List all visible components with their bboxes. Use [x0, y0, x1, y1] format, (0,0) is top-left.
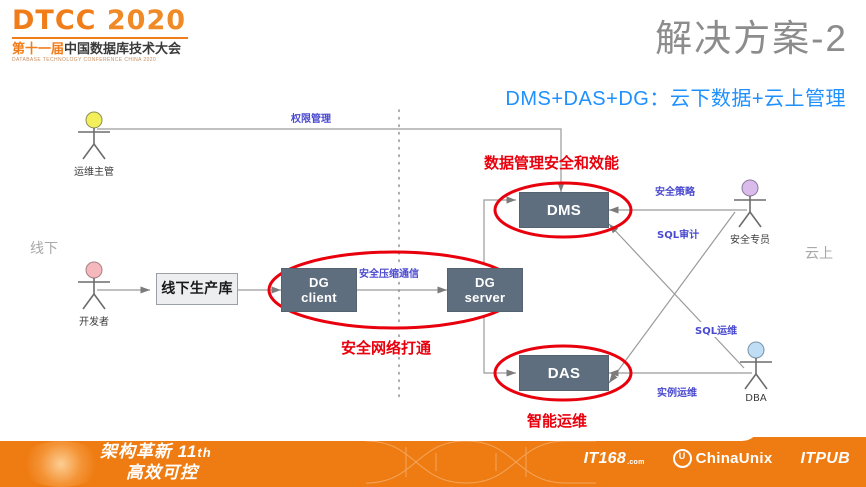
node-dg-client[interactable]: DG client: [281, 268, 357, 312]
actor-figure-icon: [66, 260, 122, 312]
logo-chinaunix-text: ChinaUnix: [696, 450, 773, 467]
annotation-data-mgmt-security: 数据管理安全和效能: [484, 152, 619, 173]
logo-it168-suffix: .com: [627, 459, 645, 466]
banner-edition-number: 11: [178, 442, 198, 461]
actor-ops-manager[interactable]: 运维主管: [66, 110, 122, 178]
annotation-secure-network: 安全网络打通: [341, 337, 431, 358]
node-label-line1: DG: [309, 275, 329, 290]
chinaunix-mark-icon: U: [673, 449, 692, 468]
slide-canvas: DTCC 2020 第十一届中国数据库技术大会 DATABASE TECHNOL…: [0, 0, 866, 487]
actor-developer[interactable]: 开发者: [66, 260, 122, 328]
actor-label: 开发者: [66, 313, 122, 328]
edge-label-instance-ops: 实例运维: [655, 384, 699, 399]
banner-orb-decoration: [18, 441, 104, 487]
dtcc-logo: DTCC 2020 第十一届中国数据库技术大会 DATABASE TECHNOL…: [12, 6, 192, 60]
logo-it168[interactable]: IT168 .com: [584, 450, 645, 468]
node-das[interactable]: DAS: [519, 355, 609, 391]
banner-dna-decoration: [366, 437, 596, 487]
logo-chinese-highlight: 第十一届: [12, 41, 64, 56]
actor-label: 运维主管: [66, 163, 122, 178]
edge-label-permission-management: 权限管理: [289, 110, 333, 125]
actor-label: 安全专员: [722, 231, 778, 246]
logo-brand: DTCC: [12, 5, 96, 36]
edge-label-security-policy: 安全策略: [653, 183, 697, 198]
architecture-diagram: 运维主管 开发者 安全专员: [0, 100, 866, 430]
banner-edition-suffix: th: [197, 445, 211, 460]
banner-slogan: 架构革新 11th 高效可控: [100, 442, 212, 483]
node-label-line2: client: [301, 290, 337, 305]
logo-english: DATABASE TECHNOLOGY CONFERENCE CHINA 202…: [12, 57, 192, 63]
banner-slogan-line2: 高效可控: [126, 463, 212, 483]
page-title: 解决方案-2: [655, 8, 848, 62]
logo-year: 2020: [107, 5, 186, 36]
node-dms[interactable]: DMS: [519, 192, 609, 228]
actor-security-specialist[interactable]: 安全专员: [722, 178, 778, 246]
actor-figure-icon: [722, 178, 778, 230]
node-label-line2: server: [465, 290, 506, 305]
zone-label-offline: 线下: [30, 238, 58, 258]
banner-partner-logos: IT168 .com U ChinaUnix ITPUB: [584, 449, 850, 468]
logo-chinese-rest: 中国数据库技术大会: [64, 41, 181, 56]
banner-slogan-text1: 架构革新: [100, 442, 172, 461]
wire-dgserver-to-dms: [484, 200, 516, 265]
bottom-banner: 架构革新 11th 高效可控 IT168 .com U ChinaUnix IT…: [0, 437, 866, 487]
annotation-intelligent-ops: 智能运维: [527, 410, 587, 431]
node-label-line1: DG: [475, 275, 495, 290]
actor-figure-icon: [66, 110, 122, 162]
logo-it168-text: IT168: [584, 450, 626, 468]
actor-label: DBA: [728, 393, 784, 404]
logo-itpub-text: ITPUB: [801, 450, 851, 468]
actor-dba[interactable]: DBA: [728, 340, 784, 404]
node-label: 线下生产库: [161, 282, 233, 297]
edge-label-sql-ops: SQL运维: [693, 322, 739, 337]
logo-chinaunix[interactable]: U ChinaUnix: [673, 449, 773, 468]
node-label: DAS: [548, 366, 581, 381]
edge-label-secure-compressed-comm: 安全压缩通信: [357, 265, 421, 280]
logo-chinese: 第十一届中国数据库技术大会: [12, 41, 192, 56]
actor-figure-icon: [728, 340, 784, 392]
logo-underline: [12, 37, 188, 39]
node-dg-server[interactable]: DG server: [447, 268, 523, 312]
zone-label-cloud: 云上: [805, 243, 833, 263]
logo-wordmark: DTCC 2020: [12, 6, 192, 36]
node-offline-production-db[interactable]: 线下生产库: [156, 273, 238, 305]
edge-label-sql-audit: SQL审计: [655, 226, 701, 241]
node-label: DMS: [547, 203, 581, 218]
logo-itpub[interactable]: ITPUB: [801, 450, 851, 468]
banner-slogan-line1: 架构革新 11th: [100, 442, 212, 463]
